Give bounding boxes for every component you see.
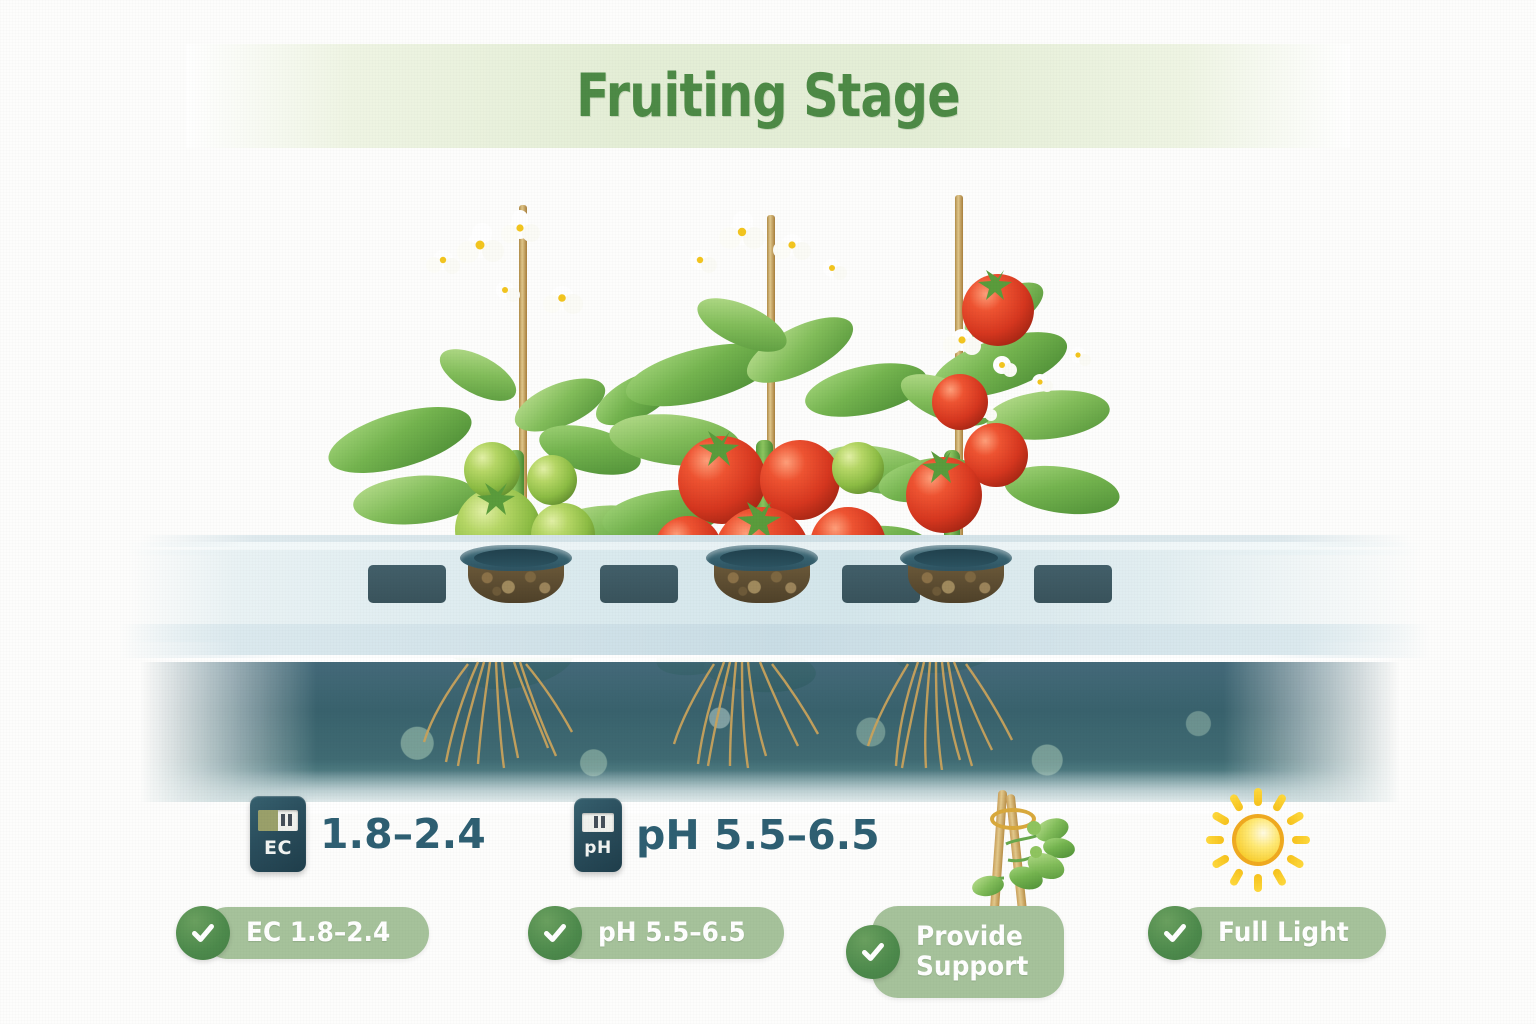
chip-pill: Full Light [1174,907,1386,959]
chip-row: EC 1.8–2.4 pH 5.5–6.5 Provide Support [0,896,1536,1006]
chip-label: Full Light [1218,918,1349,948]
chip-light[interactable]: Full Light [1148,906,1386,960]
ec-meter-icon: EC [250,796,306,872]
ph-display [582,813,614,832]
title-banner: Fruiting Stage [186,44,1350,148]
net-pot [706,545,818,607]
port-hole [1034,565,1112,603]
chip-label: Provide Support [916,922,1028,982]
net-pot [460,545,572,607]
chip-support[interactable]: Provide Support [846,906,1064,998]
check-icon [176,906,230,960]
channel-front [120,624,1430,658]
ph-meter-icon: pH [574,798,622,872]
page-title: Fruiting Stage [576,61,960,131]
chip-ph[interactable]: pH 5.5–6.5 [528,906,784,960]
chip-pill: pH 5.5–6.5 [554,907,784,959]
net-pot-inner [474,549,558,567]
chip-label: EC 1.8–2.4 [246,918,390,948]
port-hole [368,565,446,603]
ec-value: 1.8–2.4 [320,810,486,858]
sun-core [1232,814,1284,866]
net-pot [900,545,1012,607]
ph-meter: pH pH 5.5–6.5 [574,798,880,872]
chip-ec[interactable]: EC 1.8–2.4 [176,906,429,960]
check-icon [1148,906,1202,960]
sun-icon [1206,788,1310,892]
hydroponic-illustration [0,150,1536,770]
ph-value: pH 5.5–6.5 [636,811,880,859]
port-hole [600,565,678,603]
chip-pill: EC 1.8–2.4 [202,907,429,959]
chip-pill: Provide Support [872,906,1064,998]
chip-label: pH 5.5–6.5 [598,918,746,948]
net-pot-inner [720,549,804,567]
ph-icon-label: pH [584,838,611,858]
flower-cluster-left [426,210,583,314]
trellis-vine [960,786,1078,914]
net-pot-inner [914,549,998,567]
trellis-support-icon [960,786,1078,914]
ec-display [258,810,298,831]
ec-meter: EC 1.8–2.4 [250,796,486,872]
ec-icon-label: EC [264,837,292,859]
poster-canvas: Fruiting Stage [0,0,1536,1024]
check-icon [846,925,900,979]
check-icon [528,906,582,960]
